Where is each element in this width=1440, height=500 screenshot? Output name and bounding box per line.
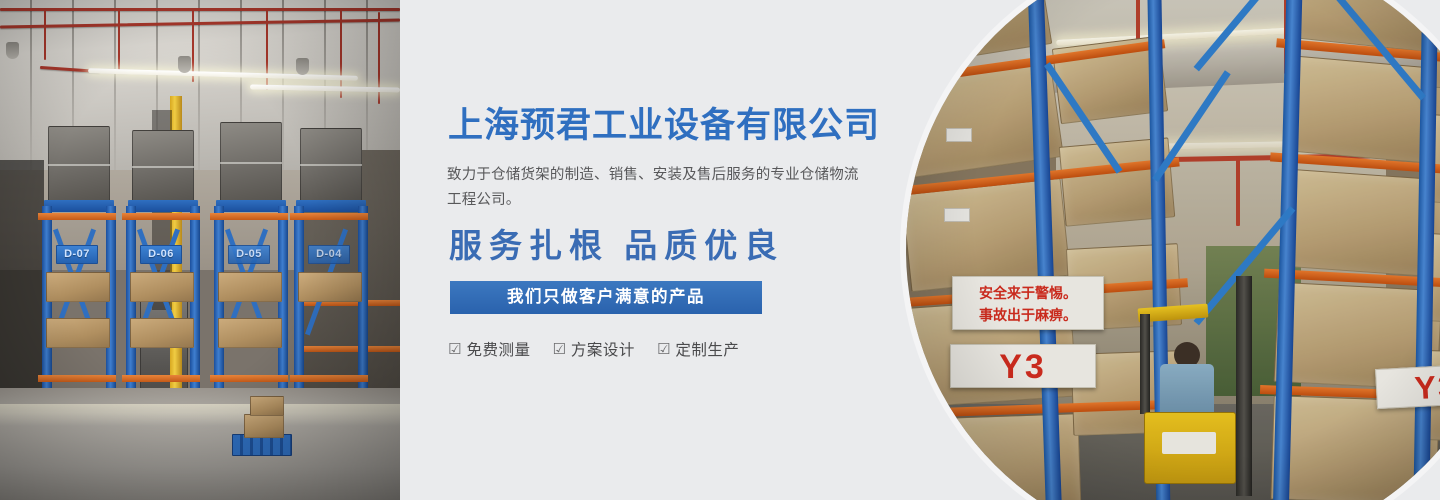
warehouse-photo-right-wrapper: 安全来于警惕。 事故出于麻痹。 Y3 Y3	[900, 0, 1440, 500]
hero-copy: 上海预君工业设备有限公司 致力于仓储货架的制造、销售、安装及售后服务的专业仓储物…	[443, 0, 913, 500]
company-subtitle: 致力于仓储货架的制造、销售、安装及售后服务的专业仓储物流工程公司。	[447, 163, 865, 213]
photo-vignette	[906, 0, 1440, 500]
feature-item: ☑ 定制生产	[657, 338, 739, 360]
photo-vignette	[0, 0, 400, 500]
company-slogan: 服务扎根 品质优良	[449, 226, 784, 268]
feature-label: 定制生产	[675, 338, 739, 360]
feature-label: 免费测量	[466, 338, 530, 360]
hero-banner: D-07 D-06	[0, 0, 1440, 500]
feature-list: ☑ 免费测量 ☑ 方案设计 ☑ 定制生产	[448, 338, 739, 360]
company-title: 上海预君工业设备有限公司	[448, 104, 880, 148]
check-box-icon: ☑	[448, 342, 461, 357]
warehouse-photo-right: 安全来于警惕。 事故出于麻痹。 Y3 Y3	[906, 0, 1440, 500]
feature-label: 方案设计	[571, 338, 635, 360]
feature-item: ☑ 免费测量	[448, 338, 530, 360]
promise-badge: 我们只做客户满意的产品	[450, 281, 762, 314]
check-box-icon: ☑	[552, 342, 565, 357]
warehouse-photo-left: D-07 D-06	[0, 0, 400, 500]
check-box-icon: ☑	[657, 342, 670, 357]
feature-item: ☑ 方案设计	[552, 338, 634, 360]
